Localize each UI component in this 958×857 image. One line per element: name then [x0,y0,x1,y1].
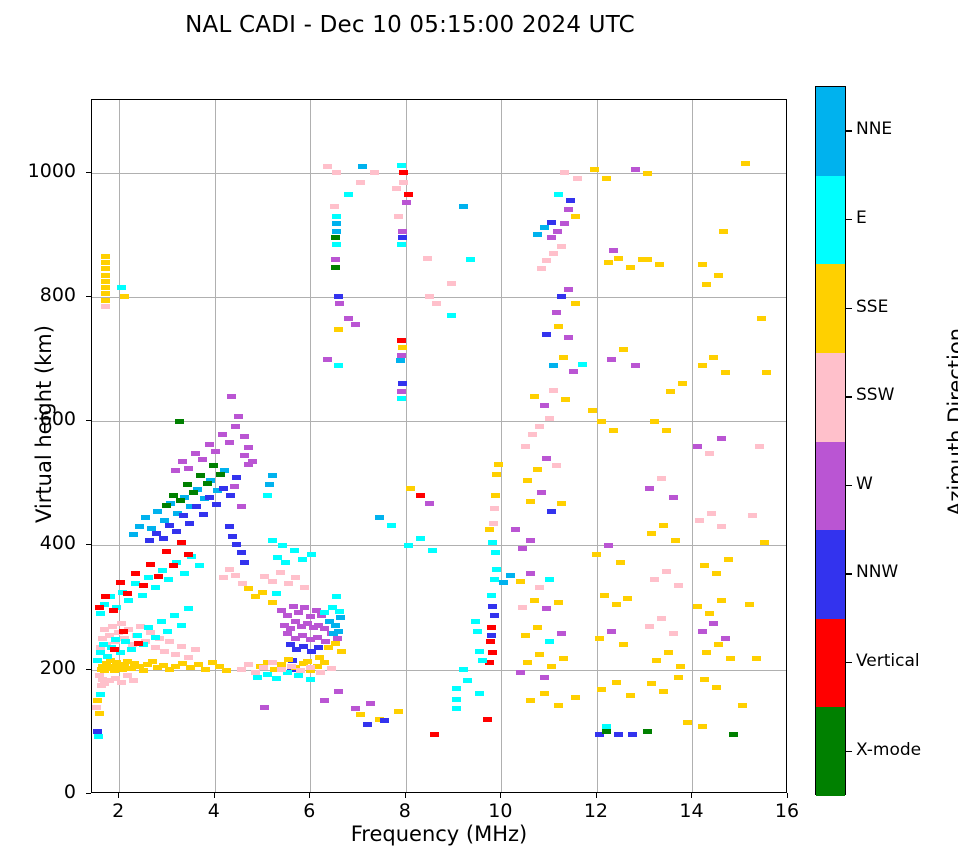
data-point [712,685,721,690]
data-point [671,538,680,543]
data-point [189,490,198,495]
data-point [471,619,480,624]
x-axis-tick-label: 10 [470,800,530,822]
data-point [185,521,194,526]
plot-area [91,99,787,793]
y-axis-tick [86,793,91,794]
data-point [151,645,160,650]
data-point [162,549,171,554]
data-point [162,503,171,508]
data-point [540,691,549,696]
data-point [158,568,167,573]
data-point [557,244,566,249]
data-point [109,608,118,613]
data-point [542,258,551,263]
data-point [643,729,652,734]
data-point [334,363,343,368]
data-point [533,232,542,237]
data-point [406,486,415,491]
data-point [597,687,606,692]
data-point [201,667,210,672]
data-point [212,502,221,507]
data-point [491,493,500,498]
data-point [332,214,341,219]
data-point [175,419,184,424]
data-point [486,639,495,644]
data-point [118,667,127,672]
data-point [600,593,609,598]
data-point [619,642,628,647]
data-point [552,463,561,468]
data-point [487,593,496,598]
data-point [459,667,468,672]
data-point [561,397,570,402]
data-point [232,542,241,547]
data-point [101,260,110,265]
data-point [452,697,461,702]
data-point [533,625,542,630]
data-point [358,164,367,169]
data-point [331,641,340,646]
data-point [351,706,360,711]
data-point [284,581,293,586]
data-point [662,569,671,574]
colorbar-segment-sse[interactable] [816,264,845,353]
gridline-horizontal [92,297,786,298]
data-point [287,664,296,669]
data-point [96,611,105,616]
colorbar[interactable] [815,86,846,795]
data-point [398,229,407,234]
data-point [683,720,692,725]
data-point [392,186,401,191]
data-point [588,408,597,413]
data-point [146,562,155,567]
data-point [516,579,525,584]
data-point [92,705,101,710]
data-point [604,260,613,265]
data-point [619,347,628,352]
data-point [741,161,750,166]
data-point [447,313,456,318]
data-point [597,419,606,424]
data-point [466,257,475,262]
colorbar-label-nnw: NNW [856,562,898,582]
data-point [416,493,425,498]
colorbar-tick [846,573,852,574]
data-point [148,659,157,664]
colorbar-tick [846,130,852,131]
data-point [133,633,142,638]
data-point [176,498,185,503]
data-point [234,414,243,419]
data-point [159,536,168,541]
data-point [101,279,110,284]
data-point [226,493,235,498]
data-point [332,170,341,175]
data-point [307,552,316,557]
y-axis-tick [86,296,91,297]
data-point [545,416,554,421]
colorbar-segment-x-mode[interactable] [816,707,845,796]
data-point [657,476,666,481]
data-point [473,629,482,634]
data-point [335,301,344,306]
data-point [559,656,568,661]
data-point [184,655,193,660]
data-point [402,200,411,205]
data-point [232,475,241,480]
data-point [120,294,129,299]
data-point [607,357,616,362]
data-point [320,698,329,703]
data-point [237,504,246,509]
data-point [332,221,341,226]
data-point [278,543,287,548]
data-point [306,665,315,670]
data-point [284,657,293,662]
data-point [244,662,253,667]
y-axis-tick [86,172,91,173]
data-point [134,641,143,646]
data-point [335,609,344,614]
data-point [209,463,218,468]
y-axis-tick [86,544,91,545]
data-point [398,381,407,386]
data-point [669,495,678,500]
gridline-vertical [310,100,311,792]
data-point [612,680,621,685]
data-point [93,658,102,663]
data-point [244,445,253,450]
data-point [545,639,554,644]
data-point [717,524,726,529]
data-point [526,499,535,504]
x-axis-tick-label: 2 [88,800,148,822]
data-point [549,363,558,368]
data-point [614,732,623,737]
data-point [752,656,761,661]
data-point [294,673,303,678]
data-point [331,257,340,262]
colorbar-label-e: E [856,208,867,228]
data-point [191,647,200,652]
data-point [172,529,181,534]
x-axis-tick [405,793,406,798]
data-point [643,171,652,176]
data-point [700,563,709,568]
colorbar-tick [846,485,852,486]
data-point [518,605,527,610]
data-point [425,501,434,506]
data-point [281,560,290,565]
data-point [344,316,353,321]
data-point [157,619,166,624]
data-point [170,613,179,618]
colorbar-label-nne: NNE [856,119,892,139]
data-point [535,585,544,590]
data-point [626,693,635,698]
data-point [230,484,239,489]
data-point [101,266,110,271]
data-point [707,511,716,516]
ionogram-figure: NAL CADI - Dec 10 05:15:00 2024 UTC 2468… [0,0,958,857]
data-point [560,170,569,175]
data-point [712,571,721,576]
data-point [714,642,723,647]
data-point [165,523,174,528]
colorbar-tick [846,308,852,309]
data-point [609,428,618,433]
data-point [616,560,625,565]
data-point [676,664,685,669]
data-point [488,604,497,609]
data-point [554,192,563,197]
data-point [363,722,372,727]
colorbar-segment-e[interactable] [816,176,845,265]
data-point [110,647,119,652]
data-point [323,164,332,169]
data-point [290,548,299,553]
colorbar-tick [846,751,852,752]
data-point [717,436,726,441]
data-point [521,633,530,638]
data-point [475,691,484,696]
data-point [101,285,110,290]
data-point [330,204,339,209]
data-point [240,453,249,458]
data-point [151,585,160,590]
data-point [103,654,112,659]
data-point [268,473,277,478]
data-point [416,536,425,541]
data-point [545,577,554,582]
data-point [258,590,267,595]
data-point [423,256,432,261]
colorbar-segment-vertical[interactable] [816,619,845,708]
colorbar-segment-w[interactable] [816,442,845,531]
data-point [334,689,343,694]
data-point [748,513,757,518]
data-point [698,629,707,634]
data-point [399,170,408,175]
data-point [554,703,563,708]
data-point [332,229,341,234]
colorbar-label-vertical: Vertical [856,651,920,671]
data-point [153,509,162,514]
data-point [165,639,174,644]
data-point [237,667,246,672]
x-axis-tick-label: 16 [757,800,817,822]
data-point [432,301,441,306]
data-point [578,362,587,367]
colorbar-label-w: W [856,474,873,494]
data-point [491,550,500,555]
data-point [650,419,659,424]
data-point [516,670,525,675]
data-point [154,574,163,579]
data-point [537,266,546,271]
data-point [366,701,375,706]
data-point [334,327,343,332]
colorbar-segment-nne[interactable] [816,87,845,176]
data-point [180,571,189,576]
data-point [198,457,207,462]
data-point [674,583,683,588]
data-point [129,532,138,537]
data-point [151,635,160,640]
data-point [542,606,551,611]
data-point [755,444,764,449]
data-point [604,543,613,548]
data-point [566,198,575,203]
data-point [487,625,496,630]
colorbar-label-ssw: SSW [856,385,894,405]
data-point [244,586,253,591]
data-point [590,167,599,172]
data-point [475,649,484,654]
colorbar-segment-ssw[interactable] [816,353,845,442]
colorbar-title: Azimuth Direction [944,232,958,612]
data-point [263,493,272,498]
data-point [294,610,303,615]
data-point [231,573,240,578]
data-point [526,571,535,576]
data-point [93,698,102,703]
data-point [702,282,711,287]
data-point [631,167,640,172]
data-point [177,540,186,545]
data-point [356,712,365,717]
data-point [518,546,527,551]
y-axis-tick [86,420,91,421]
data-point [559,355,568,360]
data-point [535,652,544,657]
data-point [397,242,406,247]
data-point [240,434,249,439]
data-point [659,523,668,528]
data-point [592,552,601,557]
data-point [320,660,329,665]
data-point [643,257,652,262]
data-point [272,676,281,681]
data-point [211,449,220,454]
gridline-horizontal [92,670,786,671]
data-point [334,629,343,634]
data-point [542,456,551,461]
data-point [526,538,535,543]
x-axis-tick [787,793,788,798]
data-point [506,573,515,578]
data-point [397,389,406,394]
data-point [334,294,343,299]
data-point [323,357,332,362]
data-point [398,235,407,240]
data-point [394,709,403,714]
data-point [117,621,126,626]
data-point [547,235,556,240]
colorbar-tick [846,396,852,397]
data-point [337,649,346,654]
data-point [729,732,738,737]
data-point [662,428,671,433]
data-point [602,729,611,734]
data-point [124,598,133,603]
data-point [177,644,186,649]
data-point [289,604,298,609]
data-point [356,180,365,185]
data-point [628,732,637,737]
x-axis-tick [309,793,310,798]
data-point [306,677,315,682]
data-point [647,531,656,536]
data-point [745,602,754,607]
data-point [144,625,153,630]
colorbar-label-x-mode: X-mode [856,740,921,760]
data-point [494,462,503,467]
data-point [260,705,269,710]
data-point [552,310,561,315]
data-point [535,424,544,429]
data-point [380,718,389,723]
data-point [101,304,110,309]
data-point [666,389,675,394]
data-point [178,459,187,464]
data-point [488,650,497,655]
data-point [698,363,707,368]
data-point [272,591,281,596]
data-point [141,515,150,520]
data-point [298,557,307,562]
data-point [191,451,200,456]
data-point [647,681,656,686]
x-axis-tick-label: 8 [375,800,435,822]
data-point [324,645,333,650]
data-point [404,543,413,548]
data-point [228,534,237,539]
data-point [183,482,192,487]
data-point [216,472,225,477]
data-point [268,660,277,665]
x-axis-tick [691,793,692,798]
data-point [698,724,707,729]
data-point [336,615,345,620]
data-point [537,490,546,495]
data-point [237,550,246,555]
data-point [300,605,309,610]
data-point [528,432,537,437]
data-point [674,675,683,680]
data-point [277,667,286,672]
data-point [447,281,456,286]
data-point [316,670,325,675]
y-axis-tick-label: 200 [0,657,76,679]
data-point [184,552,193,557]
data-point [549,388,558,393]
data-point [542,332,551,337]
gridline-vertical [501,100,502,792]
gridline-vertical [215,100,216,792]
x-axis-title: Frequency (MHz) [91,822,787,846]
data-point [117,285,126,290]
data-point [205,495,214,500]
colorbar-segment-nnw[interactable] [816,530,845,619]
data-point [726,656,735,661]
data-point [645,624,654,629]
data-point [463,678,472,683]
data-point [626,265,635,270]
data-point [296,668,305,673]
